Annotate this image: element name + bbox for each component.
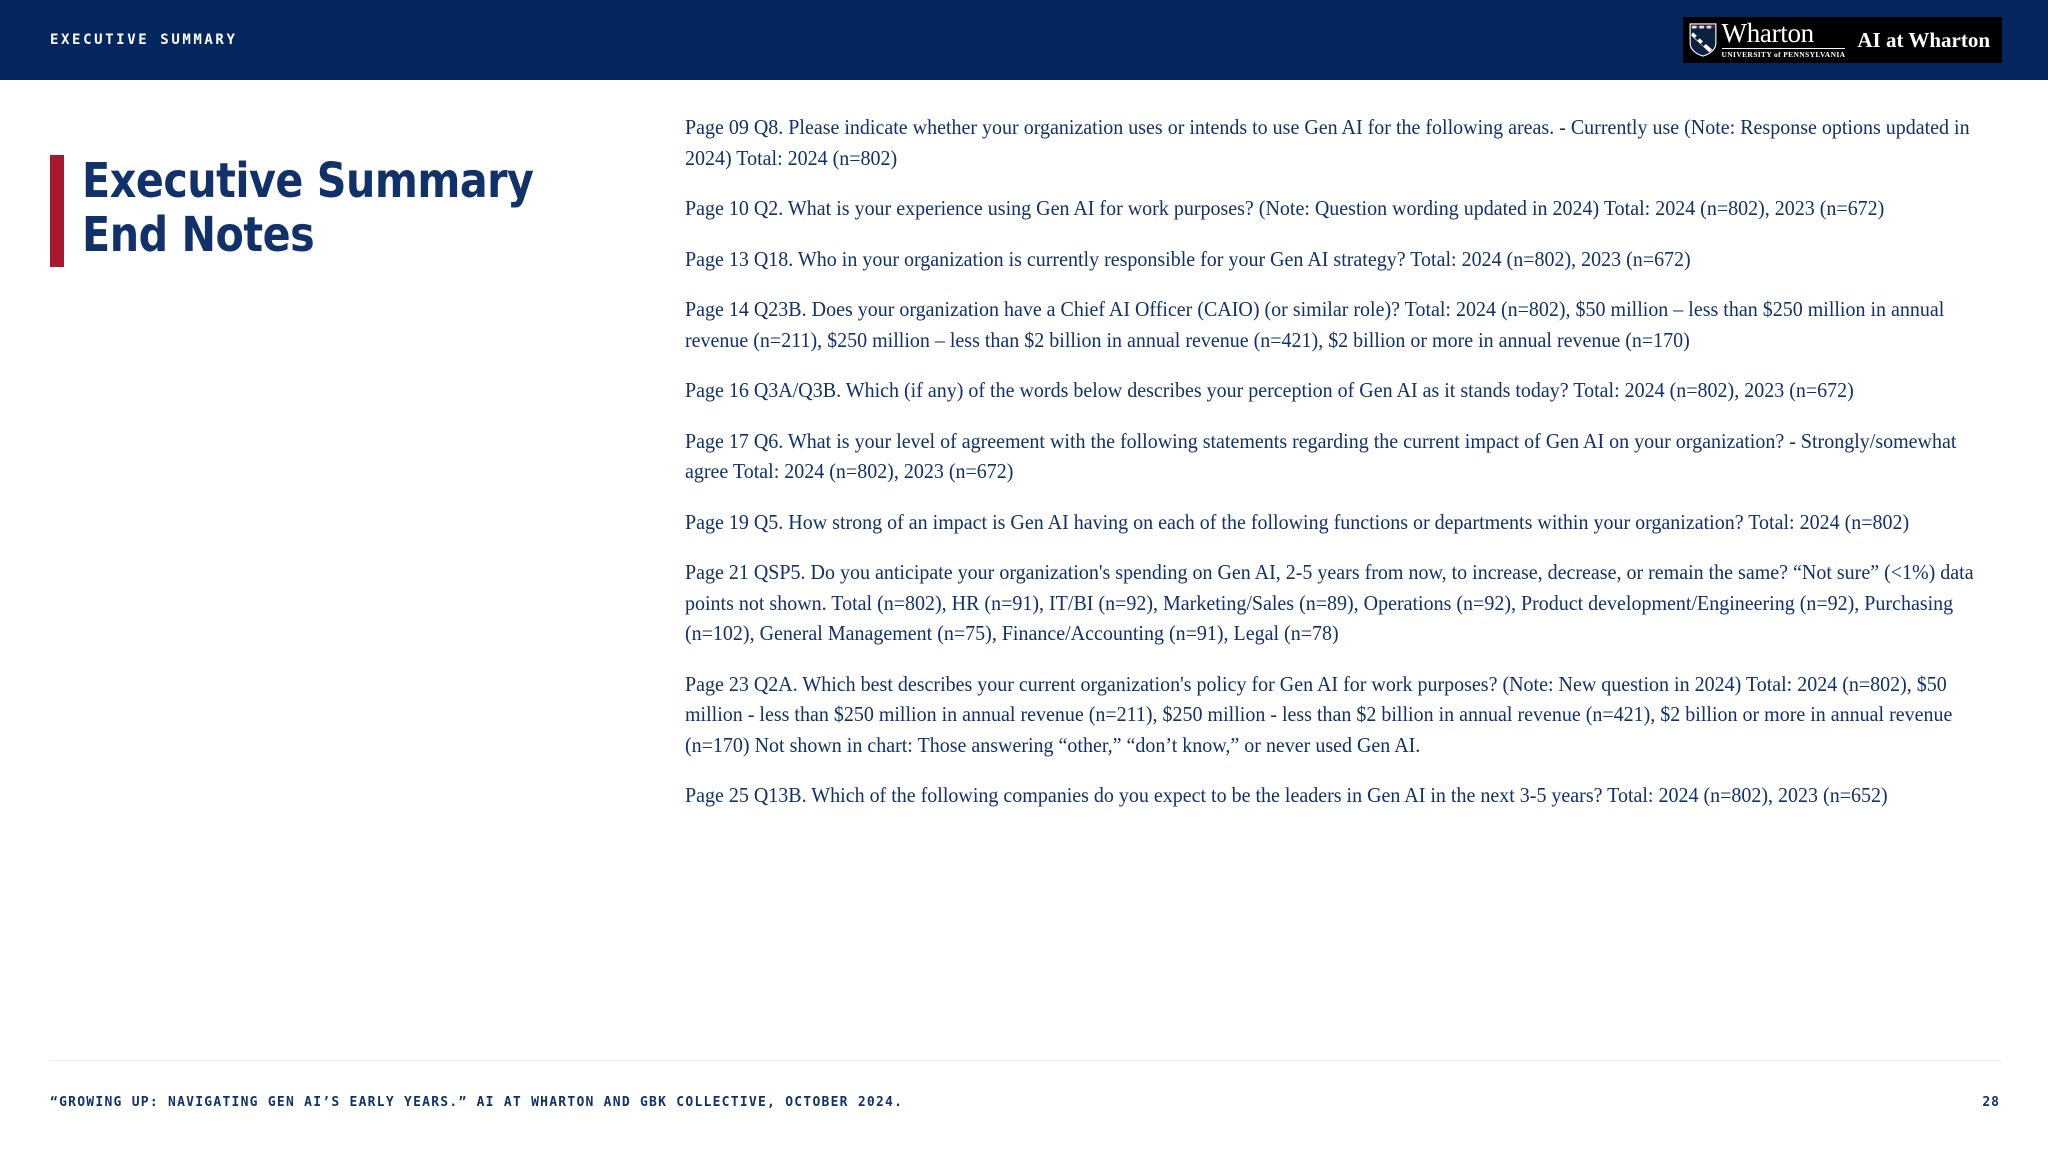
footer-source-citation: “GROWING UP: NAVIGATING GEN AI’S EARLY Y… xyxy=(50,1096,903,1109)
end-note-item: Page 19 Q5. How strong of an impact is G… xyxy=(685,507,1975,538)
wharton-wordmark-group: Wharton UNIVERSITY of PENNSYLVANIA xyxy=(1722,21,1846,59)
end-notes-list: Page 09 Q8. Please indicate whether your… xyxy=(685,112,1975,811)
wharton-wordmark: Wharton xyxy=(1722,21,1846,49)
end-note-item: Page 23 Q2A. Which best describes your c… xyxy=(685,669,1975,761)
page-title: Executive Summary End Notes xyxy=(64,155,533,267)
title-block: Executive Summary End Notes xyxy=(50,155,630,267)
end-note-item: Page 21 QSP5. Do you anticipate your org… xyxy=(685,557,1975,649)
ai-at-wharton-label: AI at Wharton xyxy=(1857,30,1994,51)
end-note-item: Page 14 Q23B. Does your organization hav… xyxy=(685,294,1975,355)
end-note-item: Page 16 Q3A/Q3B. Which (if any) of the w… xyxy=(685,375,1975,406)
title-accent-bar xyxy=(50,155,64,267)
header-bar: EXECUTIVE SUMMARY Wharton UNIVERSITY of … xyxy=(0,0,2048,80)
footer-page-number: 28 xyxy=(1982,1096,2000,1109)
end-note-item: Page 13 Q18. Who in your organization is… xyxy=(685,244,1975,275)
end-note-item: Page 25 Q13B. Which of the following com… xyxy=(685,780,1975,811)
wharton-shield-icon xyxy=(1689,23,1717,57)
end-note-item: Page 17 Q6. What is your level of agreem… xyxy=(685,426,1975,487)
wharton-university-subline: UNIVERSITY of PENNSYLVANIA xyxy=(1722,49,1846,59)
section-eyebrow-label: EXECUTIVE SUMMARY xyxy=(50,33,238,47)
brand-lockup: Wharton UNIVERSITY of PENNSYLVANIA AI at… xyxy=(1683,17,2002,63)
end-note-item: Page 09 Q8. Please indicate whether your… xyxy=(685,112,1975,173)
end-note-item: Page 10 Q2. What is your experience usin… xyxy=(685,193,1975,224)
footer-divider xyxy=(50,1060,2002,1061)
